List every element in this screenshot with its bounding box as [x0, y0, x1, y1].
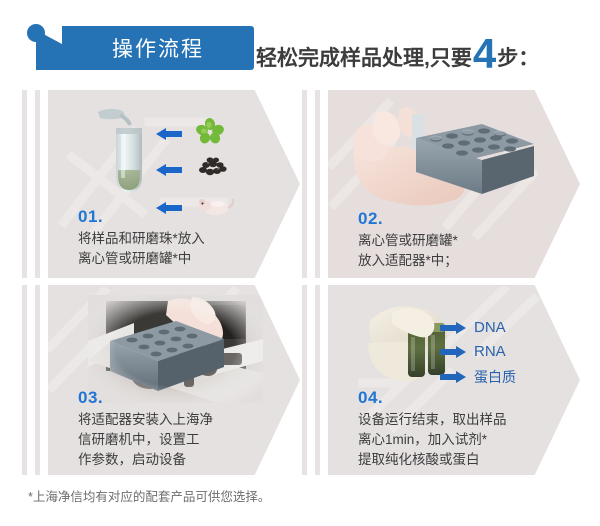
- output-row-protein: 蛋白质: [440, 367, 516, 387]
- banner-label: 操作流程: [112, 33, 204, 63]
- step-card-body: 03. 将适配器安装入上海净 信研磨机中，设置工 作参数，启动设备: [48, 285, 300, 475]
- grinder-machine-icon: [88, 295, 263, 403]
- step-number: 03.: [78, 389, 213, 408]
- output-row-rna: RNA: [440, 343, 506, 360]
- input-row-seeds: [156, 156, 230, 183]
- step-line: 放入适配器*中；: [358, 251, 458, 271]
- headline-text-before: 轻松完成样品处理,只要: [256, 42, 472, 72]
- stripe-decoration: [315, 90, 320, 278]
- step-line: 离心管或研磨罐*: [358, 231, 458, 251]
- arrow-right-icon: [440, 322, 466, 334]
- step-line: 离心管或研磨罐*中: [78, 249, 205, 269]
- headline: 轻松完成样品处理,只要 4 步：: [256, 30, 539, 74]
- stripe-decoration: [302, 90, 307, 278]
- section-banner: 操作流程: [62, 26, 254, 70]
- step-text-02: 02. 离心管或研磨罐* 放入适配器*中；: [358, 210, 458, 271]
- dark-seeds-icon: [196, 156, 230, 183]
- arrow-right-icon: [440, 346, 466, 358]
- banner-body: 操作流程: [62, 26, 254, 70]
- stripe-decoration: [315, 285, 320, 475]
- step-card-03: 03. 将适配器安装入上海净 信研磨机中，设置工 作参数，启动设备: [22, 285, 300, 475]
- stripe-decoration: [22, 285, 27, 475]
- step-card-01: 01. 将样品和研磨珠*放入 离心管或研磨罐*中: [22, 90, 300, 278]
- arrow-left-icon: [156, 164, 182, 176]
- output-row-dna: DNA: [440, 319, 506, 336]
- step-line: 提取纯化核酸或蛋白: [358, 450, 507, 470]
- step-number: 04.: [358, 389, 507, 408]
- step-line: 信研磨机中，设置工: [78, 430, 213, 450]
- steps-grid: 01. 将样品和研磨珠*放入 离心管或研磨罐*中: [0, 88, 600, 478]
- centrifuge-tube-icon: [92, 106, 150, 202]
- step-line: 离心1min，加入试剂*: [358, 430, 507, 450]
- headline-text-after: 步：: [497, 42, 539, 72]
- footer-note: *上海净信均有对应的配套产品可供您选择。: [28, 486, 270, 505]
- output-label: DNA: [474, 319, 506, 336]
- output-label: 蛋白质: [474, 367, 516, 387]
- page-header: 操作流程 轻松完成样品处理,只要 4 步：: [0, 0, 600, 88]
- step-card-body: 02. 离心管或研磨罐* 放入适配器*中；: [328, 90, 580, 278]
- step-card-body: DNA RNA 蛋白质 04. 设备运行结束，取出样品 离心1min，加入试剂*…: [328, 285, 580, 475]
- arrow-left-icon: [156, 128, 182, 140]
- arrow-right-icon: [440, 371, 466, 383]
- step-line: 将适配器安装入上海净: [78, 410, 213, 430]
- green-leaf-icon: [196, 118, 224, 149]
- step-number: 01.: [78, 208, 205, 227]
- input-row-leaf: [156, 118, 224, 149]
- output-label: RNA: [474, 343, 506, 360]
- step-card-02: 02. 离心管或研磨罐* 放入适配器*中；: [302, 90, 580, 278]
- stripe-decoration: [35, 285, 40, 475]
- step-line: 作参数，启动设备: [78, 450, 213, 470]
- stripe-decoration: [302, 285, 307, 475]
- hand-holding-adapter-icon: [344, 98, 534, 210]
- stripe-decoration: [22, 90, 27, 278]
- step-card-04: DNA RNA 蛋白质 04. 设备运行结束，取出样品 离心1min，加入试剂*…: [302, 285, 580, 475]
- step-line: 将样品和研磨珠*放入: [78, 229, 205, 249]
- step-line: 设备运行结束，取出样品: [358, 410, 507, 430]
- step-text-04: 04. 设备运行结束，取出样品 离心1min，加入试剂* 提取纯化核酸或蛋白: [358, 389, 507, 470]
- headline-step-count: 4: [473, 33, 496, 75]
- step-text-03: 03. 将适配器安装入上海净 信研磨机中，设置工 作参数，启动设备: [78, 389, 213, 470]
- step-card-body: 01. 将样品和研磨珠*放入 离心管或研磨罐*中: [48, 90, 300, 278]
- step-text-01: 01. 将样品和研磨珠*放入 离心管或研磨罐*中: [78, 208, 205, 269]
- step-number: 02.: [358, 210, 458, 229]
- stripe-decoration: [35, 90, 40, 278]
